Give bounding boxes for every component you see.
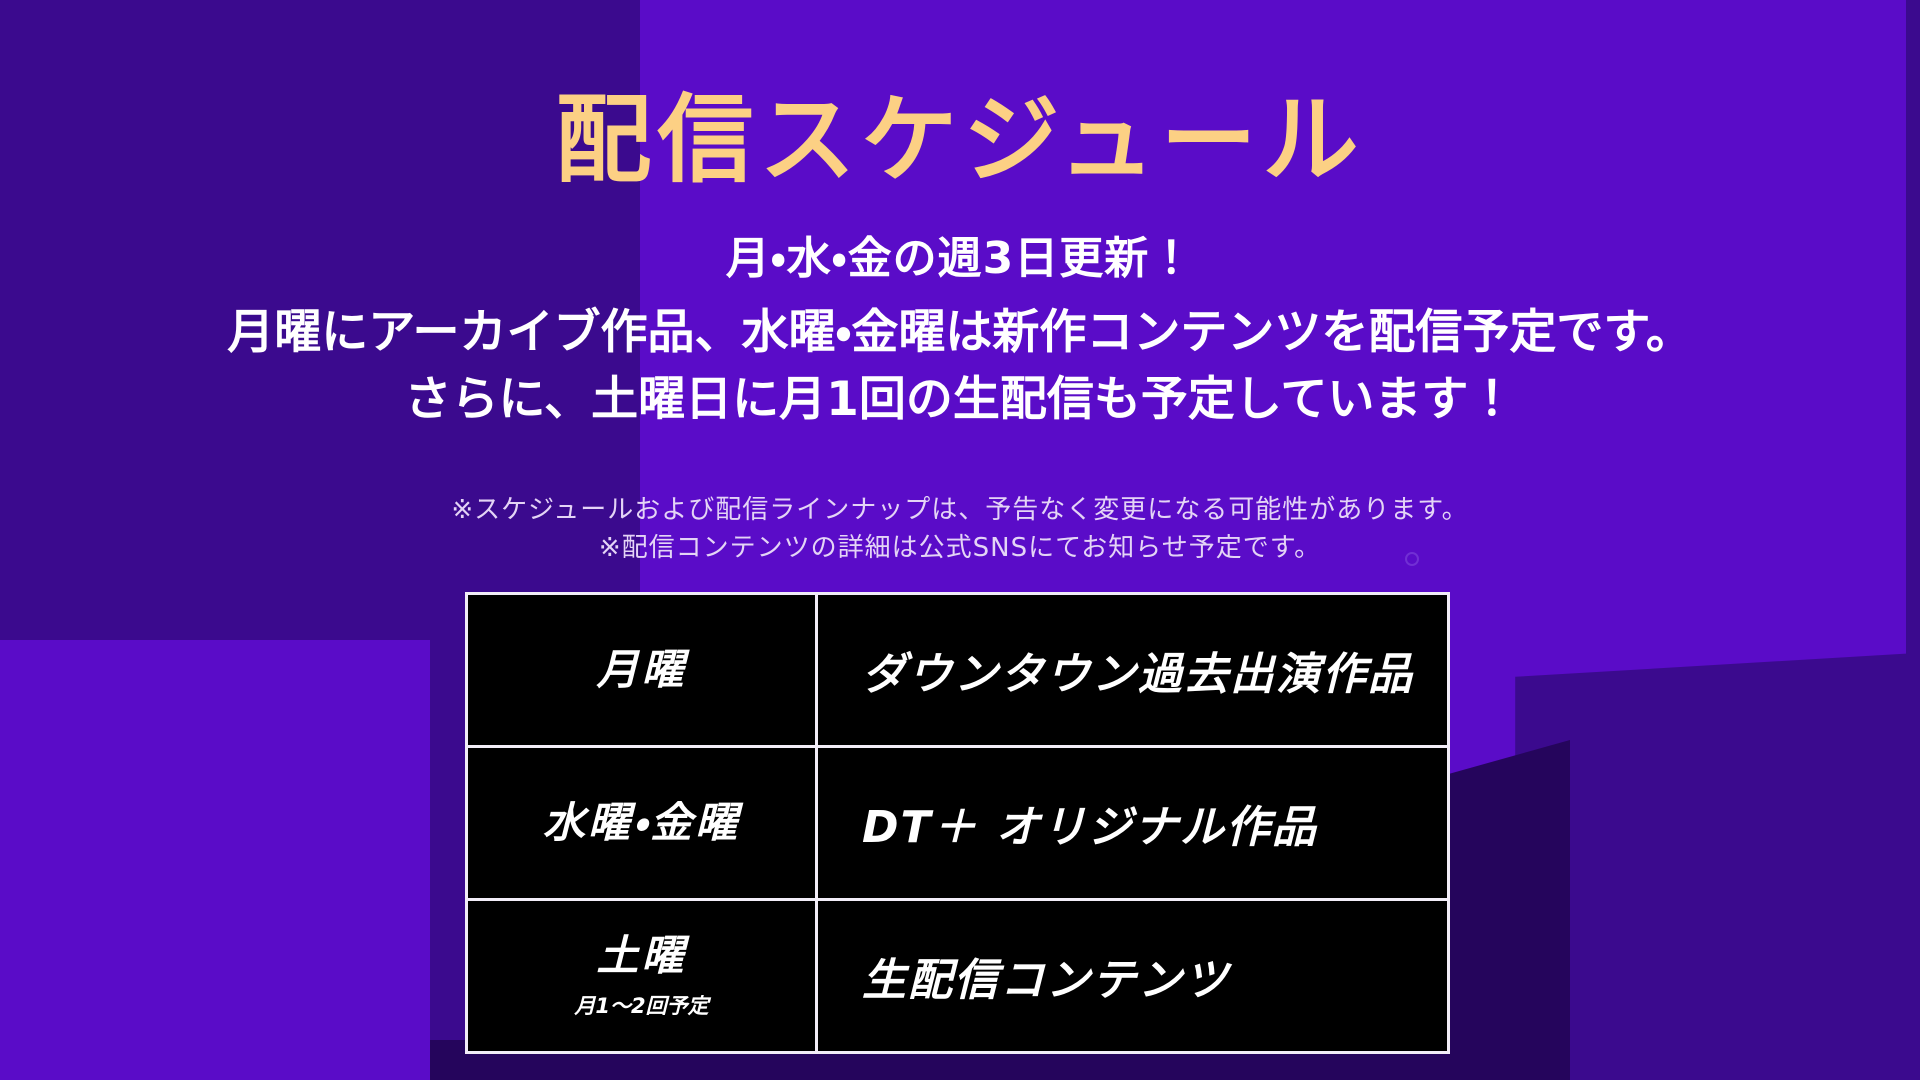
table-cell-content: ダウンタウン過去出演作品 — [818, 595, 1447, 745]
table-cell-content: DT＋ オリジナル作品 — [818, 748, 1447, 898]
content-label: 生配信コンテンツ — [862, 944, 1230, 1008]
table-row: 水曜・金曜 DT＋ オリジナル作品 — [468, 748, 1447, 901]
body-line-2: さらに、土曜日に月1回の生配信も予定しています！ — [0, 367, 1920, 434]
table-cell-day: 土曜 月1〜2回予定 — [468, 901, 818, 1051]
day-label: 土曜 — [596, 932, 686, 980]
page-title: 配信スケジュール — [0, 88, 1920, 194]
table-row: 月曜 ダウンタウン過去出演作品 — [468, 595, 1447, 748]
schedule-poster: 配信スケジュール 月・水・金の週3日更新！ 月曜にアーカイブ作品、水曜・金曜は新… — [0, 0, 1920, 1080]
body-line-1: 月曜にアーカイブ作品、水曜・金曜は新作コンテンツを配信予定です。 — [0, 300, 1920, 367]
day-sublabel: 月1〜2回予定 — [574, 990, 708, 1020]
lead-text: 月・水・金の週3日更新！ — [0, 222, 1920, 286]
disclaimer-note-2: ※配信コンテンツの詳細は公式SNSにてお知らせ予定です。 — [0, 530, 1920, 568]
content-label: ダウンタウン過去出演作品 — [862, 638, 1414, 702]
disclaimer-note-1: ※スケジュールおよび配信ラインナップは、予告なく変更になる可能性があります。 — [0, 492, 1920, 530]
table-cell-day: 水曜・金曜 — [468, 748, 818, 898]
body-text: 月曜にアーカイブ作品、水曜・金曜は新作コンテンツを配信予定です。 さらに、土曜日… — [0, 300, 1920, 433]
schedule-table: 月曜 ダウンタウン過去出演作品 水曜・金曜 DT＋ オリジナル作品 土曜 月1〜… — [465, 592, 1450, 1054]
day-label: 水曜・金曜 — [543, 799, 740, 847]
day-label: 月曜 — [596, 646, 686, 694]
table-cell-content: 生配信コンテンツ — [818, 901, 1447, 1051]
disclaimer-notes: ※スケジュールおよび配信ラインナップは、予告なく変更になる可能性があります。 ※… — [0, 492, 1920, 567]
table-cell-day: 月曜 — [468, 595, 818, 745]
content-label: DT＋ オリジナル作品 — [862, 791, 1318, 855]
table-row: 土曜 月1〜2回予定 生配信コンテンツ — [468, 901, 1447, 1051]
